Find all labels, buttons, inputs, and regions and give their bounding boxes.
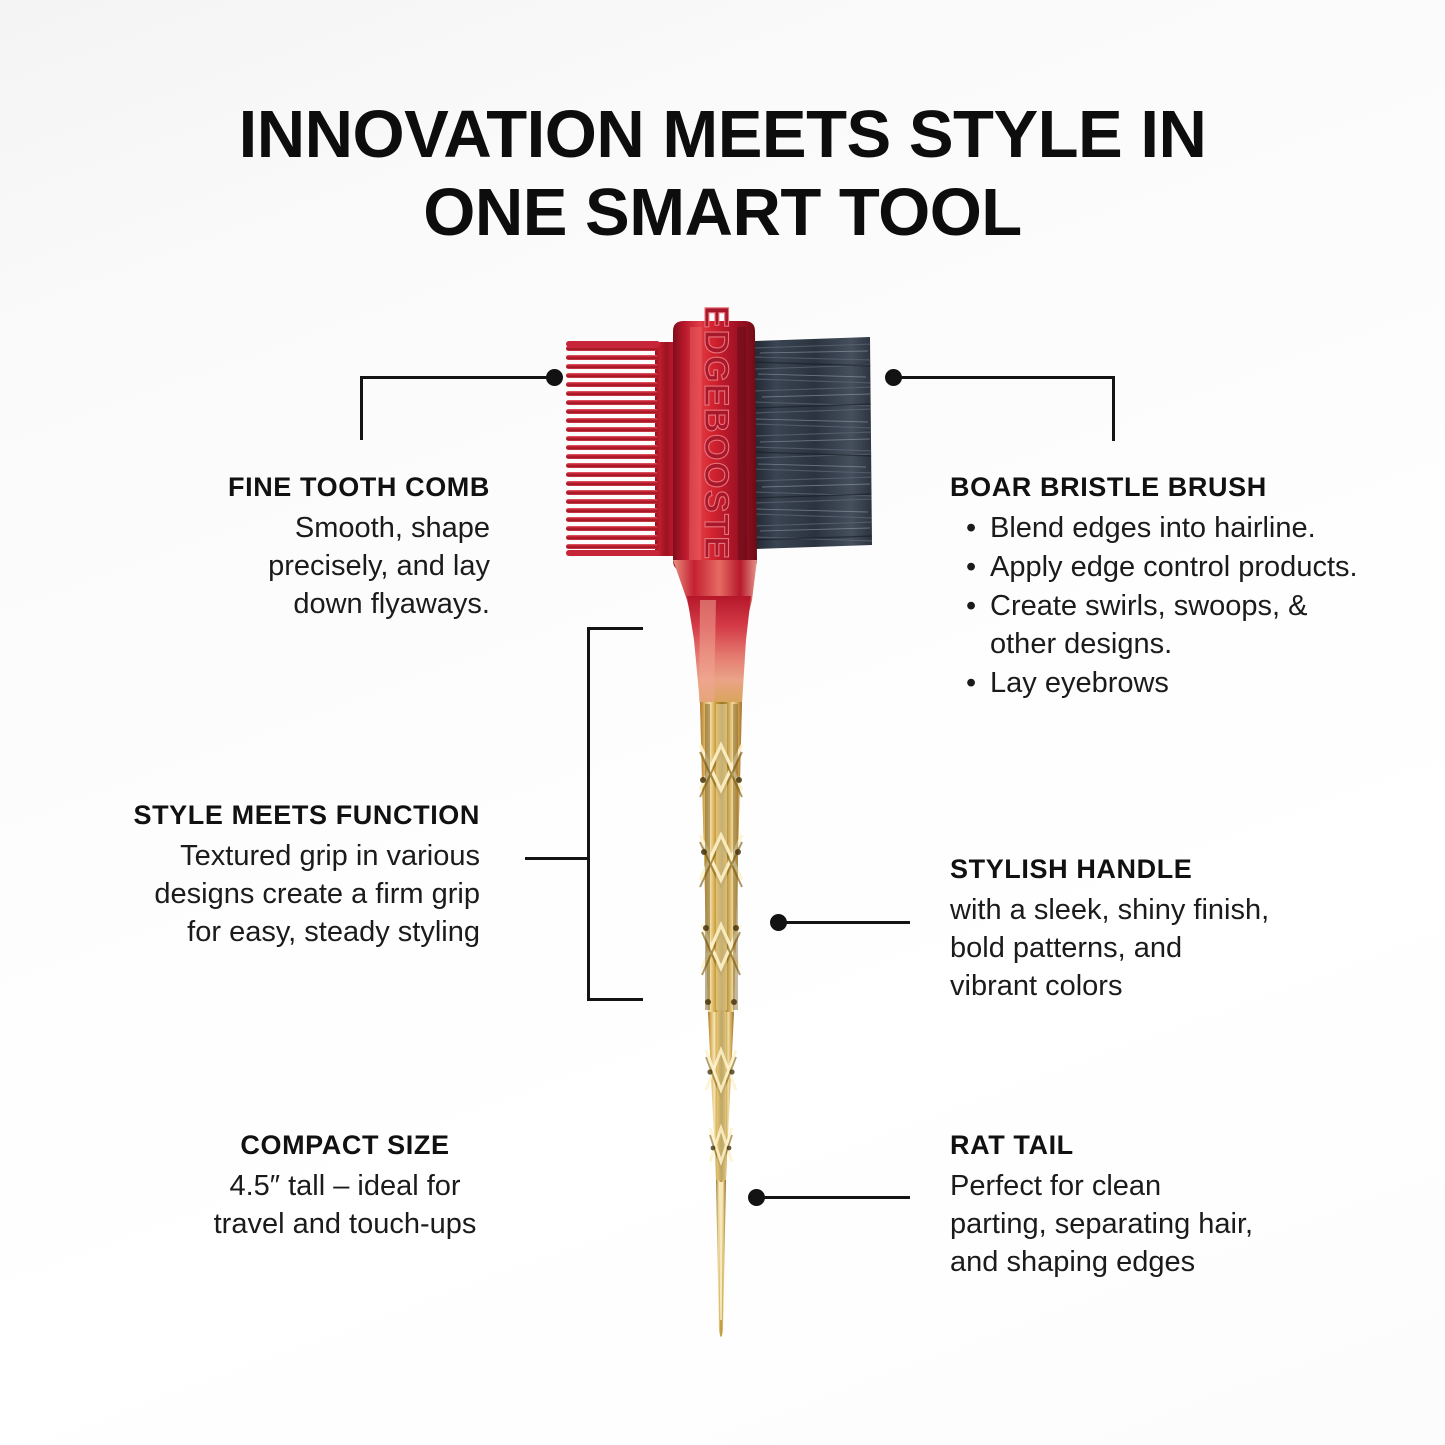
callout-body-stylish-handle: with a sleek, shiny finish, bold pattern… [950, 891, 1350, 1005]
callout-body-line: travel and touch-ups [160, 1205, 530, 1243]
leader-line-stylish-handle [780, 921, 910, 924]
list-item-label: Blend edges into hairline. [990, 512, 1316, 544]
boar-bristle-group [750, 330, 880, 555]
callout-body-fine-tooth-comb: Smooth, shape precisely, and lay down fl… [120, 509, 490, 623]
handle-neck [673, 560, 757, 704]
bullet-icon: • [966, 548, 976, 586]
list-item-label: Create swirls, swoops, & other designs. [990, 590, 1308, 660]
comb-teeth-group [566, 341, 677, 556]
leader-line-boar-bristle-brush-horizontal [894, 376, 1115, 379]
callout-body-line: Perfect for clean [950, 1167, 1350, 1205]
handle-gold-taper [706, 1010, 736, 1190]
leader-line-rat-tail [758, 1196, 910, 1199]
callout-body-line: and shaping edges [950, 1243, 1350, 1281]
callout-body-style-meets-function: Textured grip in various designs create … [60, 837, 480, 951]
callout-body-line: parting, separating hair, [950, 1205, 1350, 1243]
leader-line-fine-tooth-comb-vertical [360, 376, 363, 440]
callout-heading-style-meets-function: STYLE MEETS FUNCTION [60, 798, 480, 832]
callout-compact-size: COMPACT SIZE 4.5″ tall – ideal for trave… [160, 1128, 530, 1243]
brand-text-label: EDGEBOOSTER [697, 306, 735, 587]
leader-line-fine-tooth-comb-horizontal [360, 376, 552, 379]
callout-fine-tooth-comb: FINE TOOTH COMB Smooth, shape precisely,… [120, 470, 490, 623]
infographic-page: INNOVATION MEETS STYLE IN ONE SMART TOOL [0, 0, 1445, 1445]
bullet-icon: • [966, 509, 976, 547]
leader-line-boar-bristle-brush-vertical [1112, 376, 1115, 441]
list-item-label: Lay eyebrows [990, 667, 1169, 699]
callout-rat-tail: RAT TAIL Perfect for clean parting, sepa… [950, 1128, 1350, 1281]
leader-bracket-style-meets-function-spine [587, 627, 590, 1001]
callout-body-line: Smooth, shape [120, 509, 490, 547]
callout-body-rat-tail: Perfect for clean parting, separating ha… [950, 1167, 1350, 1281]
bullet-icon: • [966, 587, 976, 625]
list-item: • Create swirls, swoops, & other designs… [950, 587, 1370, 663]
bullet-icon: • [966, 664, 976, 702]
callout-body-line: precisely, and lay [120, 547, 490, 585]
callout-heading-fine-tooth-comb: FINE TOOTH COMB [120, 470, 490, 504]
list-item: • Lay eyebrows [950, 664, 1370, 702]
callout-body-line: Textured grip in various [60, 837, 480, 875]
callout-body-line: vibrant colors [950, 967, 1350, 1005]
leader-bracket-style-meets-function-top [587, 627, 643, 630]
callout-style-meets-function: STYLE MEETS FUNCTION Textured grip in va… [60, 798, 480, 951]
rat-tail-tip [716, 1180, 726, 1337]
callout-body-line: with a sleek, shiny finish, [950, 891, 1350, 929]
list-item: • Apply edge control products. [950, 548, 1370, 586]
callout-stylish-handle: STYLISH HANDLE with a sleek, shiny finis… [950, 852, 1350, 1005]
callout-boar-bristle-brush: BOAR BRISTLE BRUSH • Blend edges into ha… [950, 470, 1370, 703]
list-item-label: Apply edge control products. [990, 551, 1358, 583]
leader-bracket-style-meets-function-bottom [587, 998, 643, 1001]
list-item: • Blend edges into hairline. [950, 509, 1370, 547]
callout-heading-boar-bristle-brush: BOAR BRISTLE BRUSH [950, 470, 1370, 504]
page-title-line-2: ONE SMART TOOL [0, 174, 1445, 252]
callout-heading-stylish-handle: STYLISH HANDLE [950, 852, 1350, 886]
callout-body-line: 4.5″ tall – ideal for [160, 1167, 530, 1205]
leader-line-style-meets-function-stem [525, 857, 589, 860]
callout-heading-rat-tail: RAT TAIL [950, 1128, 1350, 1162]
callout-body-line: down flyaways. [120, 585, 490, 623]
callout-body-line: for easy, steady styling [60, 913, 480, 951]
callout-body-compact-size: 4.5″ tall – ideal for travel and touch-u… [160, 1167, 530, 1243]
page-title-line-1: INNOVATION MEETS STYLE IN [0, 96, 1445, 174]
callout-heading-compact-size: COMPACT SIZE [160, 1128, 530, 1162]
callout-body-line: bold patterns, and [950, 929, 1350, 967]
handle-gold-textured [700, 700, 742, 1050]
page-title: INNOVATION MEETS STYLE IN ONE SMART TOOL [0, 96, 1445, 252]
callout-body-line: designs create a firm grip [60, 875, 480, 913]
callout-bullet-list-boar-bristle-brush: • Blend edges into hairline. • Apply edg… [950, 509, 1370, 702]
brush-head-body [673, 321, 757, 571]
brand-text-edgebooster: EDGEBOOSTER [697, 306, 735, 587]
